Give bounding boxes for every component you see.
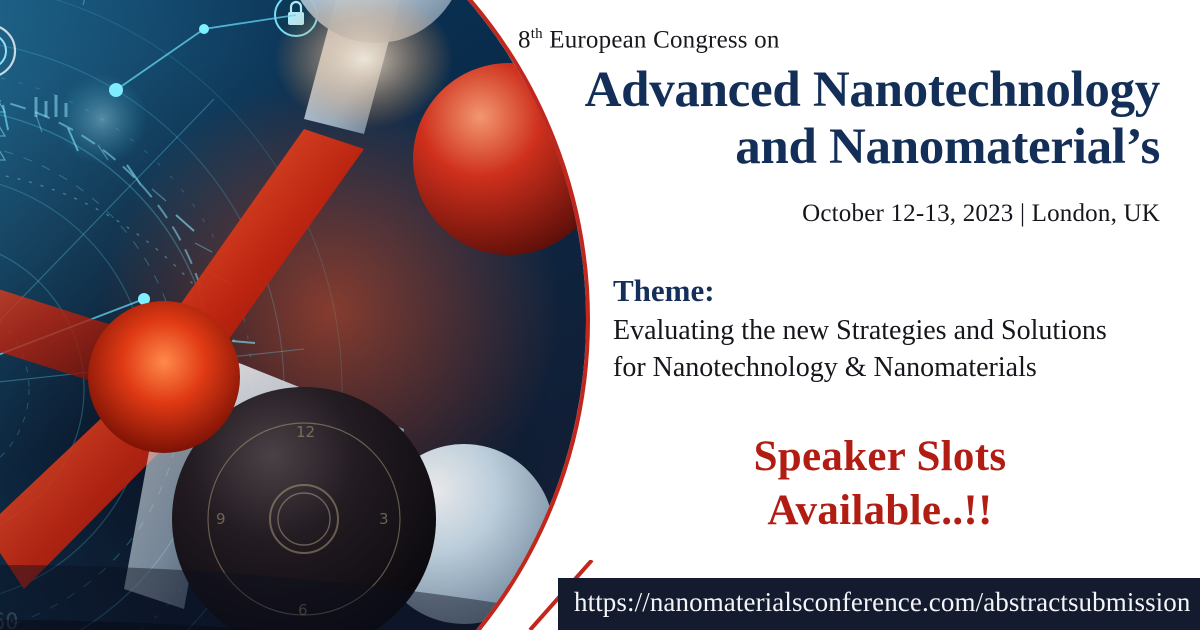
cta-line-2: Available..!! (600, 484, 1160, 538)
title-line-2: and Nanomaterial’s (470, 119, 1160, 176)
kicker-rest: European Congress on (543, 26, 780, 53)
theme-line-1: Evaluating the new Strategies and Soluti… (613, 313, 1200, 350)
theme-text: Evaluating the new Strategies and Soluti… (613, 313, 1200, 387)
svg-text:3: 3 (379, 510, 389, 528)
target-reticle-icon (0, 25, 15, 129)
svg-text:12: 12 (296, 423, 315, 441)
call-to-action: Speaker Slots Available..!! (600, 430, 1160, 538)
kicker-line: 8th European Congress on (518, 26, 780, 54)
kicker-ordinal: th (531, 26, 543, 42)
cta-line-1: Speaker Slots (600, 430, 1160, 484)
date-location-line: October 12-13, 2023 | London, UK (470, 200, 1160, 228)
theme-label: Theme: (613, 273, 715, 309)
theme-line-2: for Nanotechnology & Nanomaterials (613, 350, 1200, 387)
conference-banner: 12 11 10 110 90 80 60 A - 19976E (0, 0, 1200, 630)
kicker-number: 8 (518, 26, 531, 53)
title-line-1: Advanced Nanotechnology (470, 62, 1160, 119)
submission-url[interactable]: https://nanomaterialsconference.com/abst… (574, 587, 1190, 618)
url-bar: https://nanomaterialsconference.com/abst… (558, 578, 1200, 630)
svg-text:9: 9 (216, 510, 226, 528)
page-title: Advanced Nanotechnology and Nanomaterial… (470, 62, 1160, 176)
